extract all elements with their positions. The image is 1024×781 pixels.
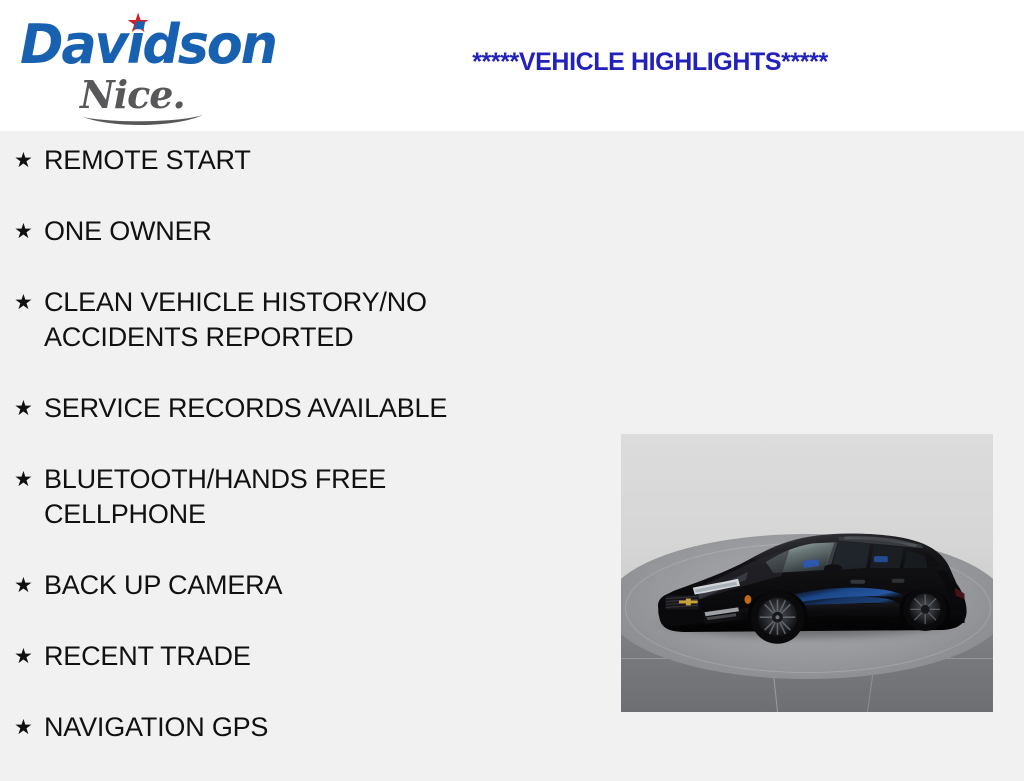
list-item-label: RECENT TRADE	[44, 639, 492, 674]
list-item-label: BACK UP CAMERA	[44, 568, 492, 603]
list-item: ★ CLEAN VEHICLE HISTORY/NO ACCIDENTS REP…	[12, 285, 512, 355]
list-item: ★ ONE OWNER	[12, 214, 512, 249]
list-item-label: SERVICE RECORDS AVAILABLE	[44, 391, 492, 426]
vehicle-photo[interactable]	[621, 434, 993, 712]
logo-script-text: Nice.	[80, 76, 185, 114]
vehicle-highlights-page: ★ Davidson Nice. *****VEHICLE HIGHLIGHTS…	[0, 0, 1024, 768]
list-item-label: NAVIGATION GPS	[44, 710, 492, 745]
star-bullet-icon: ★	[12, 214, 44, 249]
star-bullet-icon: ★	[12, 462, 44, 497]
list-item: ★ BACK UP CAMERA	[12, 568, 512, 603]
page-content: ★ REMOTE START ★ ONE OWNER ★ CLEAN VEHIC…	[0, 131, 1024, 768]
star-bullet-icon: ★	[12, 710, 44, 745]
list-item-label: REMOTE START	[44, 143, 492, 178]
star-bullet-icon: ★	[12, 143, 44, 178]
vehicle-photo-canvas	[621, 434, 993, 712]
list-item: ★ RECENT TRADE	[12, 639, 512, 674]
list-item: ★ SERVICE RECORDS AVAILABLE	[12, 391, 512, 426]
list-item-label: CLEAN VEHICLE HISTORY/NO ACCIDENTS REPOR…	[44, 285, 492, 355]
vehicle-highlights-list: ★ REMOTE START ★ ONE OWNER ★ CLEAN VEHIC…	[12, 143, 512, 781]
list-item: ★ BLUETOOTH/HANDS FREE CELLPHONE	[12, 462, 512, 532]
suv-illustration-icon	[636, 501, 982, 673]
logo-wordmark: Davidson	[20, 18, 276, 72]
list-item-label: ONE OWNER	[44, 214, 492, 249]
logo-swoosh-icon	[82, 114, 204, 128]
list-item-label: BLUETOOTH/HANDS FREE CELLPHONE	[44, 462, 492, 532]
star-bullet-icon: ★	[12, 391, 44, 426]
star-bullet-icon: ★	[12, 568, 44, 603]
page-title: *****VEHICLE HIGHLIGHTS*****	[300, 48, 1000, 77]
list-item: ★ REMOTE START	[12, 143, 512, 178]
page-header: ★ Davidson Nice. *****VEHICLE HIGHLIGHTS…	[0, 0, 1024, 131]
list-item: ★ NAVIGATION GPS	[12, 710, 512, 745]
dealer-logo[interactable]: ★ Davidson Nice.	[16, 8, 276, 126]
star-bullet-icon: ★	[12, 285, 44, 320]
star-bullet-icon: ★	[12, 639, 44, 674]
